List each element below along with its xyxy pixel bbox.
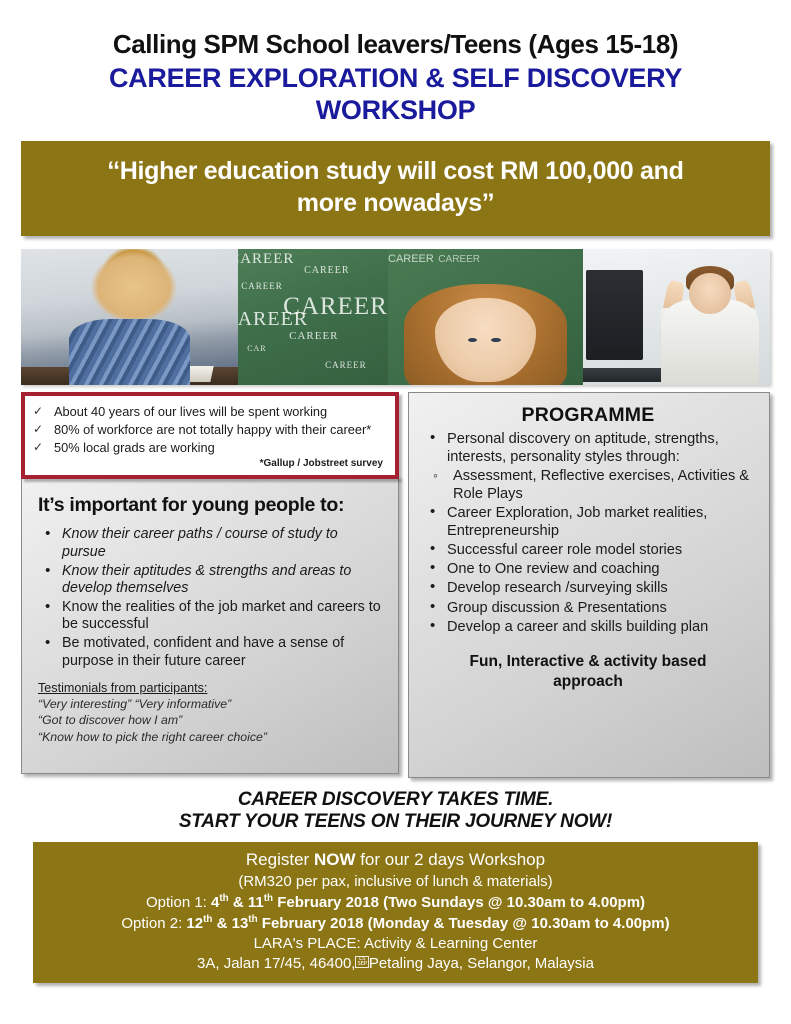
- page-title-line3: WORKSHOP: [30, 95, 761, 127]
- importance-panel: It’s important for young people to: Know…: [21, 476, 399, 774]
- list-item: Develop research /surveying skills: [421, 579, 755, 597]
- face-shape: [435, 298, 536, 382]
- chalk-word: CAREER: [289, 330, 338, 342]
- check-icon: ✓: [33, 403, 45, 419]
- address-post: Petaling Jaya, Selangor, Malaysia: [369, 955, 594, 972]
- testimonial-quote: “Got to discover how I am”: [38, 712, 384, 728]
- register-pre: Register: [246, 850, 314, 869]
- chalk-word: CAREER: [438, 254, 480, 265]
- list-item: Assessment, Reflective exercises, Activi…: [421, 467, 755, 503]
- list-item: Group discussion & Presentations: [421, 599, 755, 617]
- programme-bullet-list: Personal discovery on aptitude, strength…: [421, 430, 755, 466]
- list-item: Know the realities of the job market and…: [38, 599, 384, 634]
- page-title-line2: CAREER EXPLORATION & SELF DISCOVERY: [30, 63, 761, 95]
- importance-heading: It’s important for young people to:: [38, 495, 384, 516]
- students-group-photo: CAREER CAREER: [388, 249, 583, 385]
- statistic-text: About 40 years of our lives will be spen…: [54, 403, 327, 420]
- programme-sub-bullet-list: Assessment, Reflective exercises, Activi…: [421, 467, 755, 503]
- option1-line: Option 1: 4th & 11th February 2018 (Two …: [43, 892, 748, 913]
- list-item: ✓ About 40 years of our lives will be sp…: [33, 403, 385, 420]
- list-item: ✓ 80% of workforce are not totally happy…: [33, 421, 385, 438]
- monitor-shape: [586, 270, 642, 360]
- statistic-text: 80% of workforce are not totally happy w…: [54, 421, 371, 438]
- option1-label: Option 1:: [146, 894, 211, 911]
- chalk-word: CAREER: [238, 251, 294, 268]
- list-item: Know their career paths / course of stud…: [38, 526, 384, 561]
- programme-panel: PROGRAMME Personal discovery on aptitude…: [408, 392, 770, 778]
- check-icon: ✓: [33, 421, 45, 437]
- right-column: PROGRAMME Personal discovery on aptitude…: [408, 392, 770, 778]
- quote-banner-wrapper: ‘‘Higher education study will cost RM 10…: [21, 141, 770, 236]
- price-line: (RM320 per pax, inclusive of lunch & mat…: [43, 872, 748, 892]
- chalk-word: CAREER: [304, 265, 349, 276]
- importance-bullet-list: Know their career paths / course of stud…: [38, 526, 384, 670]
- ctrl-glyph-bottom: SEP: [357, 962, 366, 967]
- eye-shape: [468, 338, 477, 342]
- programme-footer: Fun, Interactive & activity based approa…: [421, 652, 755, 692]
- quote-line2: more nowadays’’: [47, 187, 744, 220]
- photo-strip: CAREER CAREER CAREER CAR CAREER CAREER C…: [21, 249, 770, 385]
- chalk-word: CAREER: [283, 293, 388, 321]
- chalk-word: CAREER: [241, 281, 283, 291]
- option2-day2-suffix: th: [248, 914, 257, 925]
- flyer-header: Calling SPM School leavers/Teens (Ages 1…: [0, 0, 791, 127]
- statistics-source-note: *Gallup / Jobstreet survey: [33, 458, 385, 469]
- book-shape: [110, 366, 213, 382]
- option2-mid: &: [212, 915, 231, 932]
- flyer-page: Calling SPM School leavers/Teens (Ages 1…: [0, 0, 791, 1024]
- list-item: Successful career role model stories: [421, 541, 755, 559]
- left-column: ✓ About 40 years of our lives will be sp…: [21, 392, 399, 774]
- list-item: Personal discovery on aptitude, strength…: [421, 430, 755, 466]
- body-columns: ✓ About 40 years of our lives will be sp…: [21, 392, 770, 778]
- chalk-word: CAR: [247, 344, 266, 353]
- statistics-box: ✓ About 40 years of our lives will be sp…: [21, 392, 399, 479]
- option1-mid: &: [229, 894, 248, 911]
- list-item: Know their aptitudes & strengths and are…: [38, 563, 384, 598]
- line-separator-control-glyph: LSSEP: [355, 956, 368, 968]
- tagline-line1: CAREER DISCOVERY TAKES TIME.: [21, 789, 770, 811]
- option2-detail: February 2018 (Monday & Tuesday @ 10.30a…: [258, 915, 670, 932]
- option1-day1-suffix: th: [219, 893, 228, 904]
- chalk-word: CAREER: [325, 360, 367, 370]
- programme-footer-line1: Fun, Interactive & activity based: [421, 652, 755, 672]
- page-title-line1: Calling SPM School leavers/Teens (Ages 1…: [30, 30, 761, 60]
- tagline: CAREER DISCOVERY TAKES TIME. START YOUR …: [21, 789, 770, 834]
- option1-day2-suffix: th: [264, 893, 273, 904]
- address-pre: 3A, Jalan 17/45, 46400,: [197, 955, 355, 972]
- testimonial-quote: “Very interesting” “Very informative”: [38, 696, 384, 712]
- address-line: 3A, Jalan 17/45, 46400,LSSEPPetaling Jay…: [43, 954, 748, 974]
- list-item: Develop a career and skills building pla…: [421, 618, 755, 636]
- tagline-line2: START YOUR TEENS ON THEIR JOURNEY NOW!: [21, 811, 770, 833]
- career-chalkboard-photo: CAREER CAREER CAREER CAR CAREER CAREER C…: [238, 249, 388, 385]
- testimonial-quote: “Know how to pick the right career choic…: [38, 729, 384, 745]
- option1-day2: 11: [248, 894, 264, 911]
- eye-shape: [491, 338, 500, 342]
- student-studying-photo: [21, 249, 238, 385]
- register-line: Register NOW for our 2 days Workshop: [43, 849, 748, 872]
- head-shape: [689, 273, 730, 314]
- programme-footer-line2: approach: [421, 672, 755, 692]
- option1-detail: February 2018 (Two Sundays @ 10.30am to …: [273, 894, 645, 911]
- registration-footer: Register NOW for our 2 days Workshop (RM…: [33, 842, 758, 982]
- venue-line: LARA's PLACE: Activity & Learning Center: [43, 934, 748, 954]
- register-post: for our 2 days Workshop: [355, 850, 545, 869]
- option2-label: Option 2:: [121, 915, 186, 932]
- testimonials-section: Testimonials from participants: “Very in…: [38, 681, 384, 745]
- programme-bullet-list-continued: Career Exploration, Job market realities…: [421, 504, 755, 637]
- testimonials-heading: Testimonials from participants:: [38, 681, 384, 695]
- register-now-emphasis: NOW: [314, 850, 356, 869]
- list-item: Be motivated, confident and have a sense…: [38, 635, 384, 670]
- celebrating-girl-photo: [583, 249, 770, 385]
- list-item: One to One review and coaching: [421, 560, 755, 578]
- list-item: ✓ 50% local grads are working: [33, 439, 385, 456]
- programme-heading: PROGRAMME: [421, 404, 755, 427]
- chalk-words-layer: CAREER CAREER CAREER CAR CAREER CAREER C…: [238, 249, 388, 385]
- chalk-words-layer: CAREER CAREER: [388, 249, 583, 267]
- chalk-word: CAREER: [388, 253, 434, 265]
- list-item: Career Exploration, Job market realities…: [421, 504, 755, 540]
- quote-line1: ‘‘Higher education study will cost RM 10…: [47, 155, 744, 188]
- statistic-text: 50% local grads are working: [54, 439, 215, 456]
- option2-day1: 12: [186, 915, 203, 932]
- quote-banner: ‘‘Higher education study will cost RM 10…: [21, 141, 770, 236]
- option2-line: Option 2: 12th & 13th February 2018 (Mon…: [43, 913, 748, 934]
- check-icon: ✓: [33, 439, 45, 455]
- option2-day2: 13: [232, 915, 249, 932]
